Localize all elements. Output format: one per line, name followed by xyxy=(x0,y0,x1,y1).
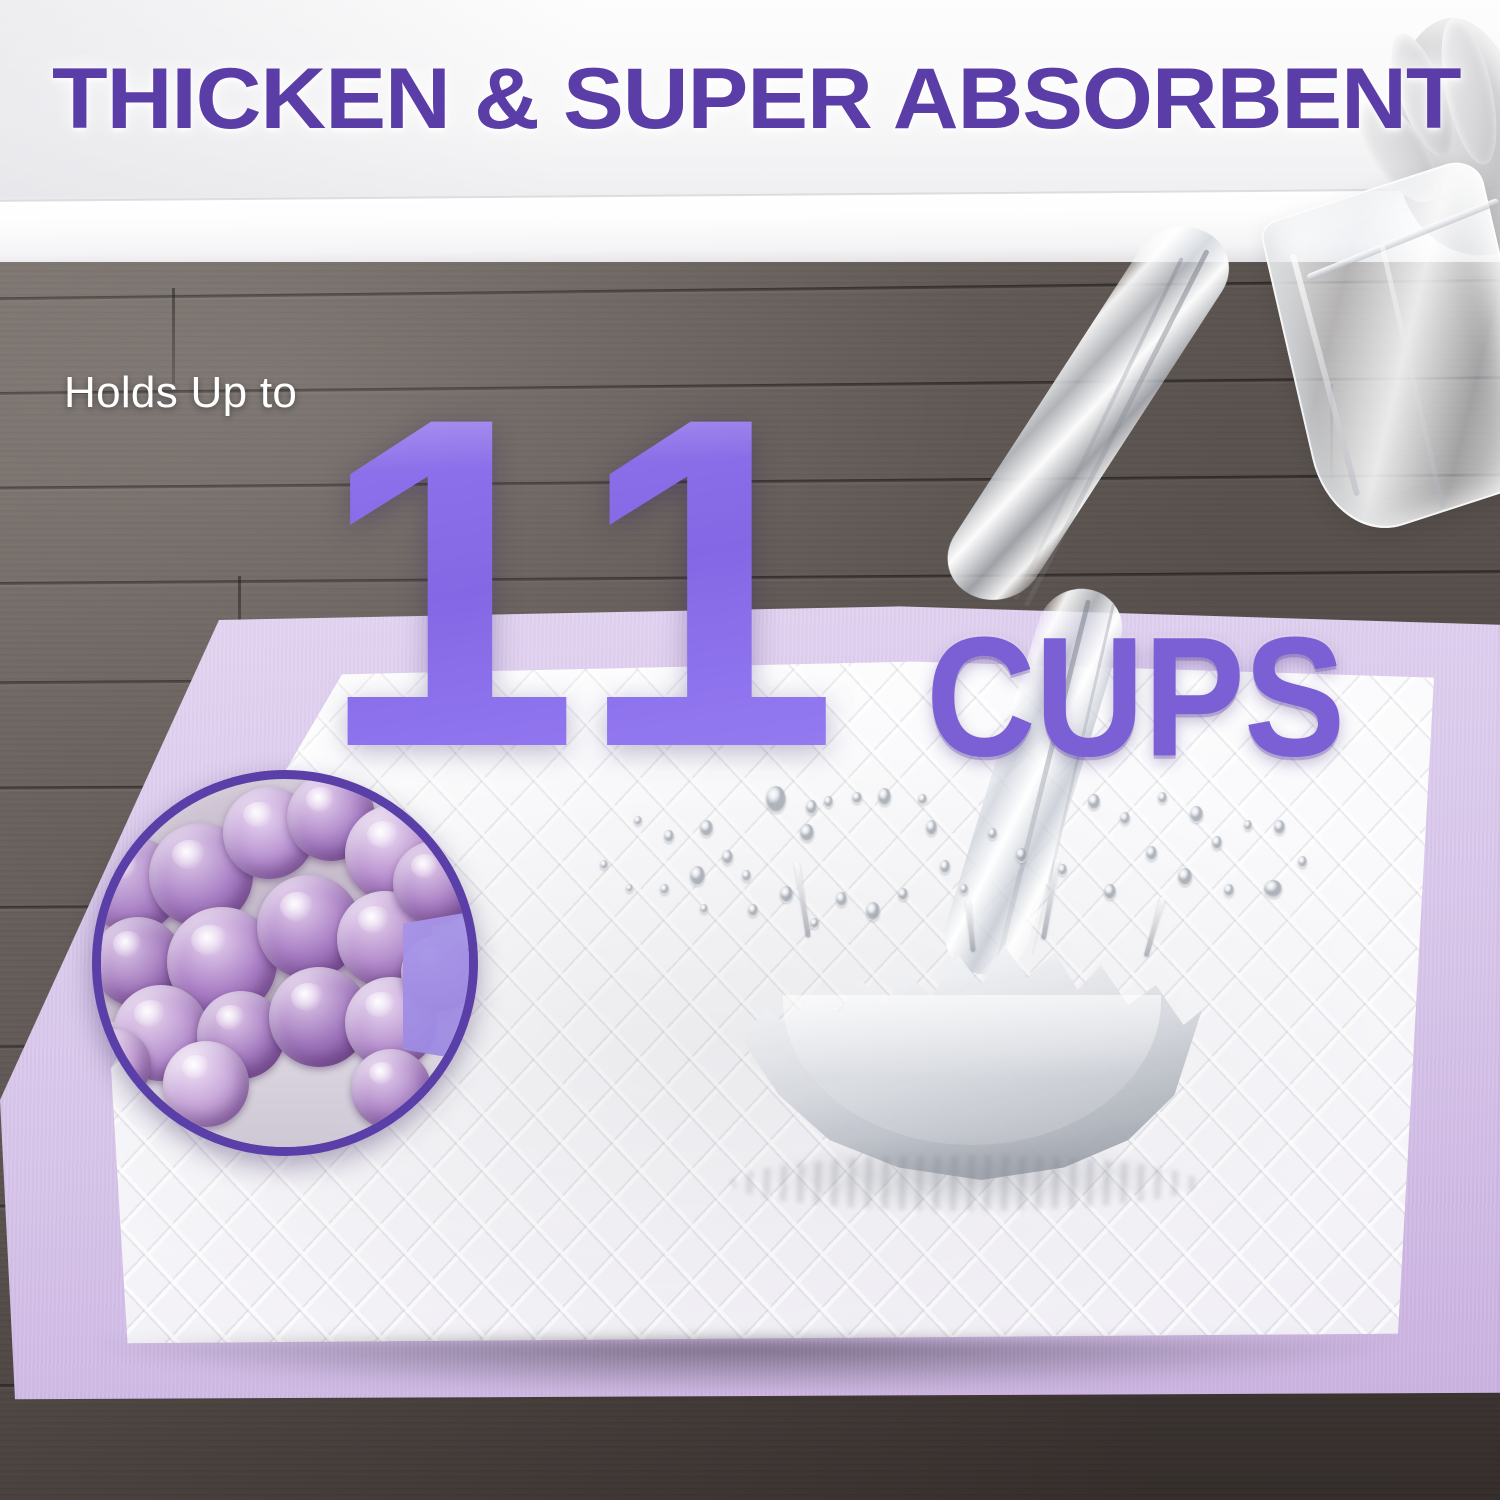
water-droplet xyxy=(1298,856,1307,868)
water-droplet xyxy=(1212,836,1222,850)
splash-ripple-detail xyxy=(730,1155,1200,1211)
page-title: THICKEN & SUPER ABSORBENT xyxy=(52,56,1461,142)
pad-drop-shadow xyxy=(10,1340,1480,1410)
water-droplet xyxy=(1274,820,1285,835)
water-droplet xyxy=(600,860,608,870)
water-droplet xyxy=(1088,794,1100,810)
water-droplet xyxy=(878,788,891,806)
water-droplet xyxy=(1224,884,1234,897)
water-droplet xyxy=(1120,812,1130,825)
water-droplet xyxy=(626,884,633,893)
gel-bead xyxy=(163,1041,249,1127)
water-droplet xyxy=(1158,792,1167,804)
water-droplet xyxy=(1016,848,1027,863)
water-droplet xyxy=(1058,864,1067,876)
water-droplet xyxy=(898,888,908,901)
water-droplet xyxy=(1264,880,1282,898)
water-droplet xyxy=(660,884,669,895)
water-droplet xyxy=(988,828,997,840)
water-droplet xyxy=(960,884,968,895)
claim-unit-label: CUPS xyxy=(926,612,1344,782)
water-droplet xyxy=(1190,806,1203,823)
water-droplet xyxy=(722,850,733,865)
water-droplet xyxy=(1178,868,1192,886)
water-droplet xyxy=(780,886,793,903)
claim-prefix-label: Holds Up to xyxy=(64,368,297,418)
water-droplet xyxy=(748,904,758,917)
water-droplet xyxy=(926,820,937,836)
water-droplet xyxy=(810,918,819,929)
water-droplet xyxy=(1104,884,1116,900)
product-feature-image: THICKEN & SUPER ABSORBENT Holds Up to 11… xyxy=(0,0,1500,1500)
water-droplet xyxy=(940,860,950,874)
water-droplet xyxy=(1244,820,1252,831)
inset-purple-wedge xyxy=(403,911,473,1061)
water-droplet xyxy=(1146,846,1157,861)
water-droplet xyxy=(866,902,880,921)
water-droplet xyxy=(700,904,708,914)
gel-bead xyxy=(393,841,477,925)
water-droplet xyxy=(918,794,927,805)
claim-amount: 11 xyxy=(318,348,863,818)
water-droplet xyxy=(742,870,751,882)
water-droplet xyxy=(690,866,705,886)
water-droplet xyxy=(836,892,847,907)
gel-bead xyxy=(351,1049,431,1129)
